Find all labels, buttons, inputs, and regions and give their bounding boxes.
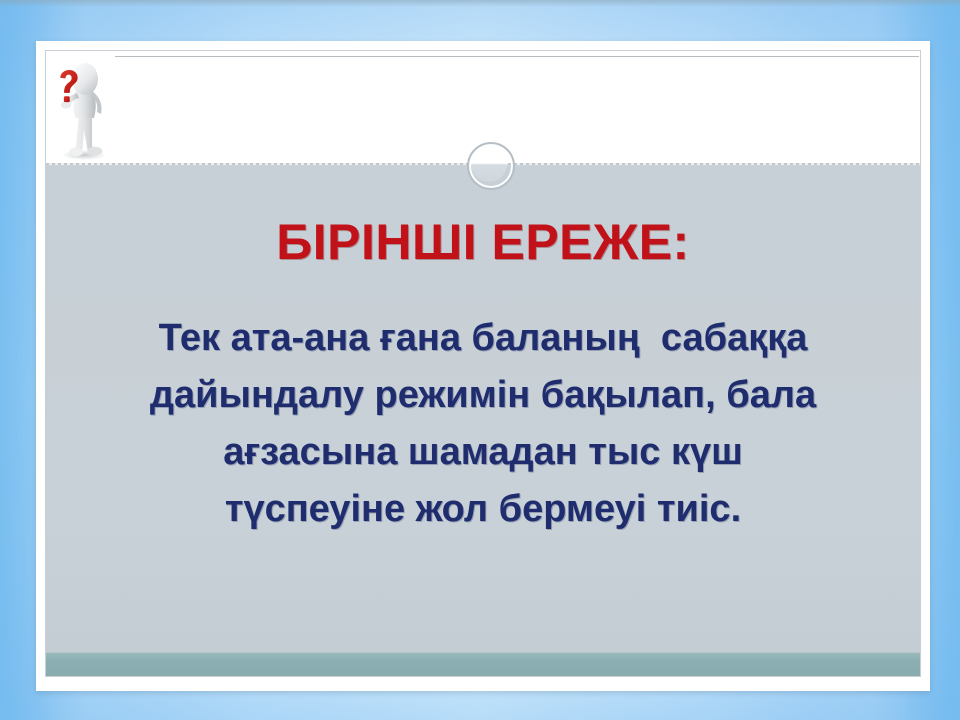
body-line-4: түспеуіне жол бермеуі тиіс. bbox=[80, 481, 886, 538]
body-line-3: ағзасына шамадан тыс күш bbox=[80, 424, 886, 481]
bottom-accent-bar bbox=[46, 652, 920, 677]
body-paragraph: Тек ата-ана ғана баланың сабаққа дайында… bbox=[80, 310, 886, 538]
page-backdrop: БІРІНШІ ЕРЕЖЕ: Тек ата-ана ғана баланың … bbox=[0, 0, 960, 720]
3d-person-with-question-mark-icon bbox=[46, 54, 122, 162]
slide-body: БІРІНШІ ЕРЕЖЕ: Тек ата-ана ғана баланың … bbox=[46, 166, 920, 677]
headline-text: БІРІНШІ ЕРЕЖЕ: bbox=[46, 213, 920, 271]
slide-canvas: БІРІНШІ ЕРЕЖЕ: Тек ата-ана ғана баланың … bbox=[45, 50, 921, 677]
circle-ring-decoration-icon bbox=[467, 142, 515, 190]
header-rule-divider bbox=[115, 56, 919, 57]
slide-frame: БІРІНШІ ЕРЕЖЕ: Тек ата-ана ғана баланың … bbox=[36, 41, 930, 691]
body-line-1: Тек ата-ана ғана баланың сабаққа bbox=[80, 310, 886, 367]
body-line-2: дайындалу режимін бақылап, бала bbox=[80, 367, 886, 424]
